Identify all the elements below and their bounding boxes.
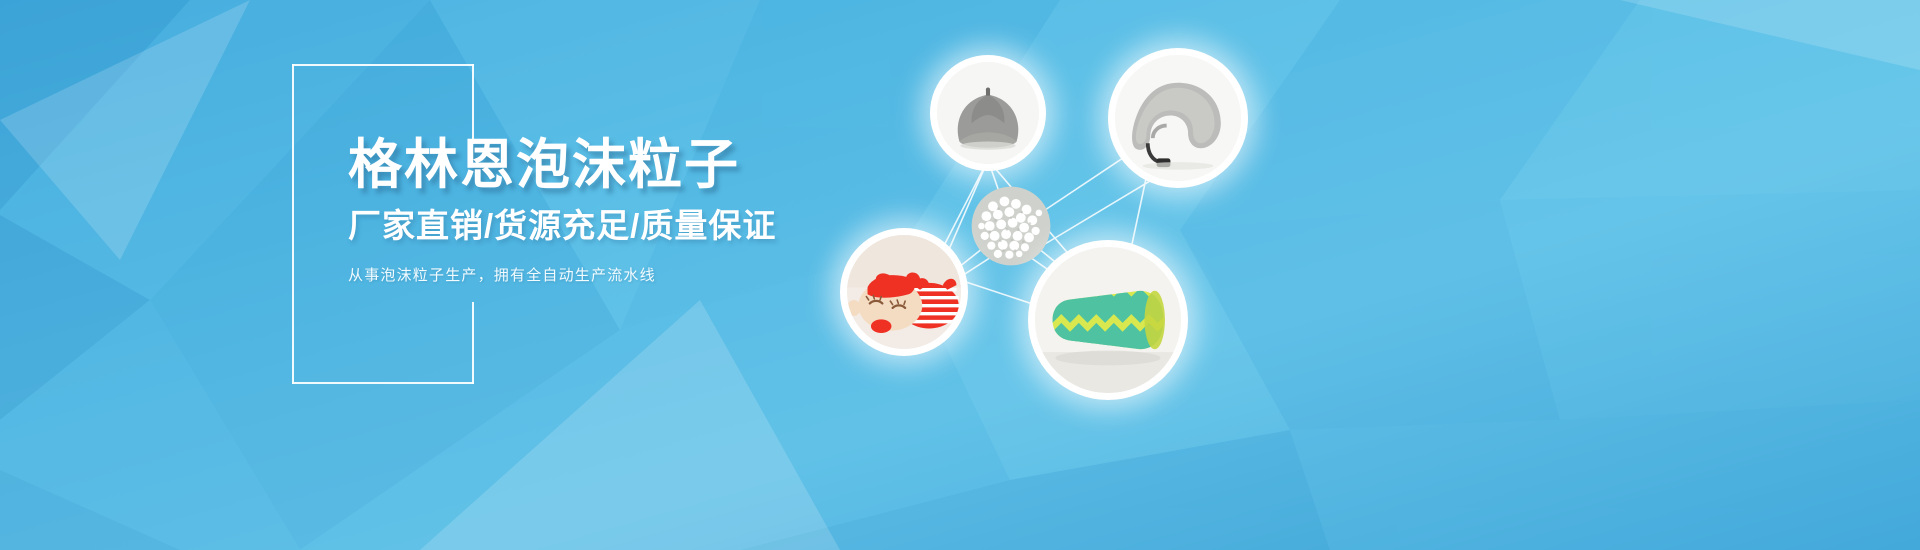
frame-edge-right-bottom-stub: [472, 302, 474, 384]
u-shape-neck-pillow-icon: [1115, 55, 1241, 181]
product-node-neck-pillow[interactable]: [1108, 48, 1248, 188]
promo-banner: 格林恩泡沫粒子 厂家直销/货源充足/质量保证 从事泡沫粒子生产，拥有全自动生产流…: [0, 0, 1920, 550]
frame-edge-top: [292, 64, 474, 66]
foam-particles-icon: [970, 185, 1052, 267]
frame-edge-bottom: [292, 382, 474, 384]
product-node-pig-plush[interactable]: [840, 228, 968, 356]
product-node-roll-pillow[interactable]: [1028, 240, 1188, 400]
frame-edge-right-top-stub: [472, 64, 474, 144]
bean-bag-chair-icon: [937, 62, 1039, 164]
product-node-beanbag[interactable]: [930, 55, 1046, 171]
checkered-roll-pillow-icon: [1035, 247, 1181, 393]
product-node-foam-particles[interactable]: [970, 185, 1052, 267]
pig-plush-toy-icon: [847, 235, 961, 349]
frame-edge-left: [292, 64, 294, 384]
product-network: [820, 0, 1380, 550]
